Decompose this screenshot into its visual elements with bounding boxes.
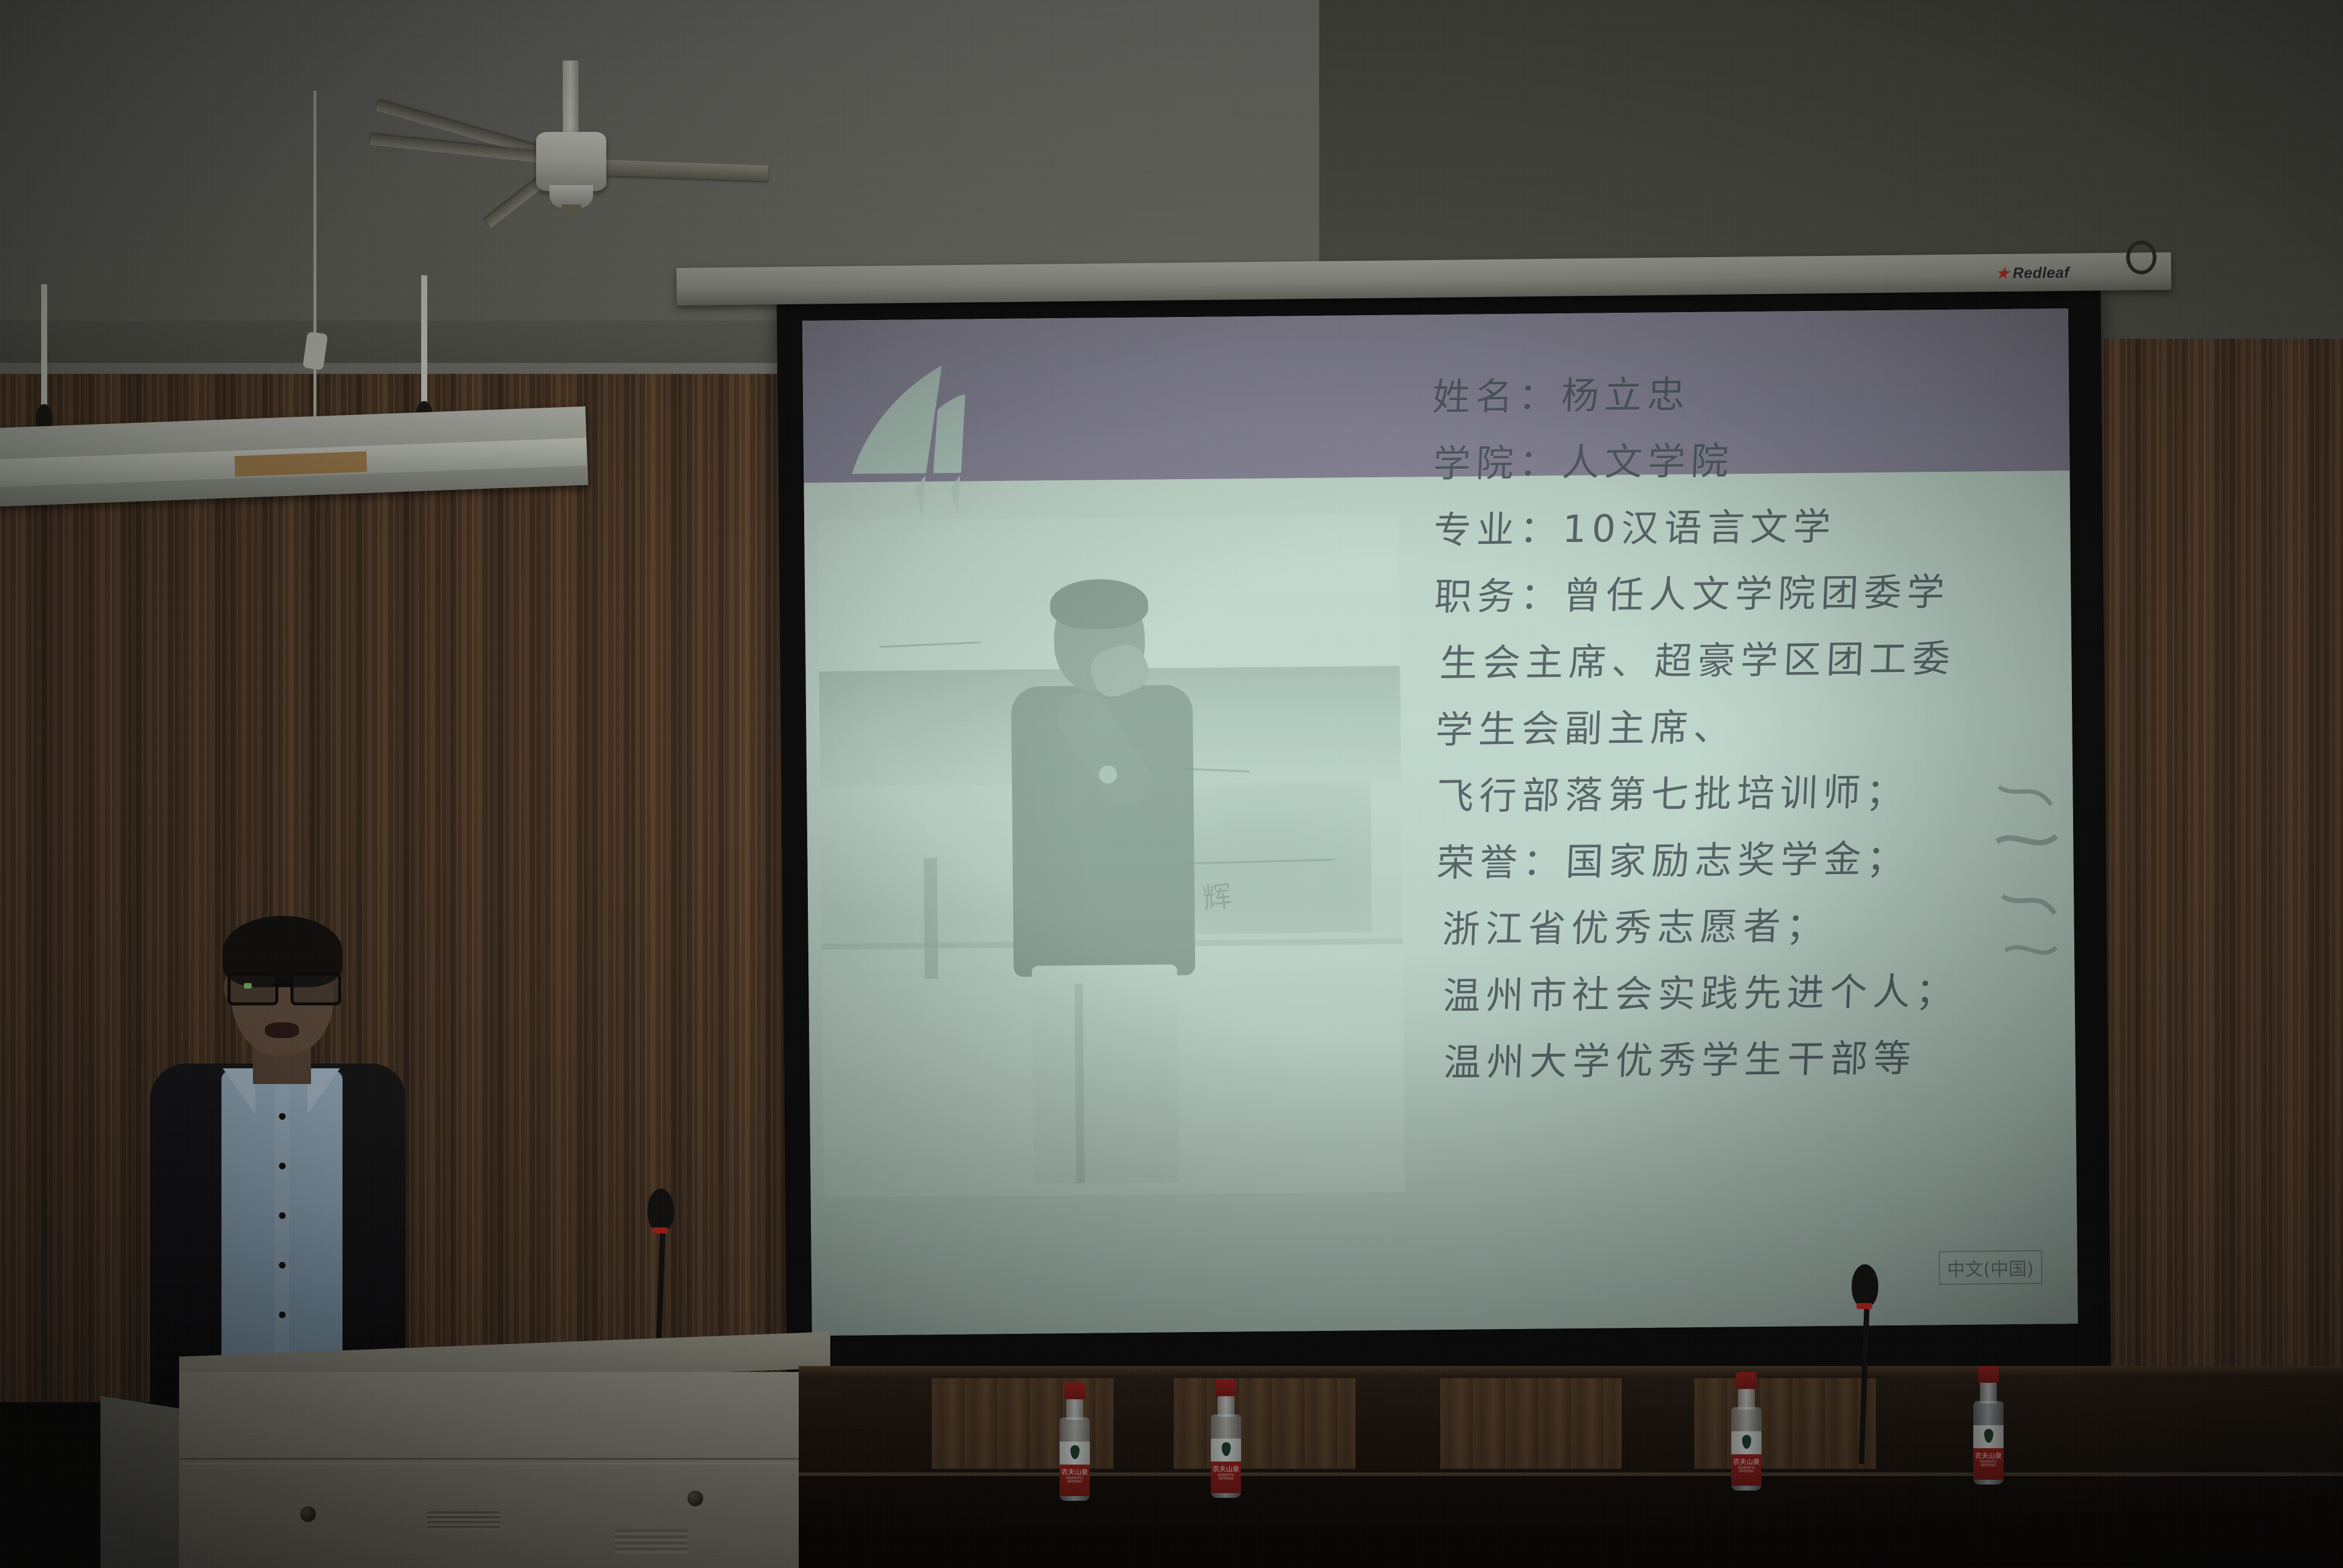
lectern-grille bbox=[615, 1529, 687, 1553]
water-bottle[interactable]: 农夫山泉NONGFU SPRING bbox=[1728, 1372, 1765, 1491]
eyeglasses bbox=[228, 973, 339, 999]
water-bottle[interactable]: 农夫山泉NONGFU SPRING bbox=[1970, 1366, 2007, 1485]
bottle-brand-en: NONGFU SPRING bbox=[1973, 1460, 2004, 1468]
handwritten-profile-text: 姓名：杨立忠 学院：人文学院 专业：10汉语言文学 职务：曾任人文学院团委学 生… bbox=[1432, 358, 2063, 1096]
lecture-hall-photo: ★Redleaf bbox=[0, 0, 2343, 1568]
bottle-brand-cn: 农夫山泉 bbox=[1731, 1457, 1761, 1466]
handwriting-line: 职务：曾任人文学院团委学 bbox=[1433, 558, 2059, 630]
handwriting-line: 浙江省优秀志愿者； bbox=[1436, 890, 2062, 963]
lectern-vent bbox=[427, 1511, 500, 1530]
light-fixture-hanger bbox=[41, 284, 47, 430]
bottle-brand-en: NONGFU SPRING bbox=[1731, 1466, 1761, 1474]
screen-hanger-loop bbox=[2126, 240, 2157, 275]
handwriting-line: 荣誉：国家励志奖学金； bbox=[1435, 824, 2062, 897]
bottle-brand-cn: 农夫山泉 bbox=[1973, 1451, 2004, 1460]
fan-light-kit bbox=[562, 204, 581, 217]
handwriting-line: 姓名：杨立忠 bbox=[1431, 358, 2057, 431]
fan-motor-housing bbox=[536, 132, 606, 191]
bottle-brand-en: NONGFU SPRING bbox=[1211, 1474, 1241, 1481]
photo-ink-stamp: 辉 bbox=[1200, 872, 1234, 917]
projection-screen-frame: 辉 姓名：杨立忠 学院：人文学院 专业：10汉语言文学 职务：曾任人文学院团委学… bbox=[776, 283, 2111, 1379]
bottle-cap bbox=[1216, 1379, 1236, 1397]
bottle-brand-en: NONGFU SPRING bbox=[1060, 1477, 1090, 1484]
fan-downrod bbox=[563, 60, 578, 133]
bottle-cap bbox=[1978, 1366, 1999, 1384]
handwriting-line: 学院：人文学院 bbox=[1432, 425, 2058, 497]
handwriting-line: 温州大学优秀学生干部等 bbox=[1437, 1024, 2063, 1096]
ceiling-fan bbox=[387, 97, 847, 254]
ime-language-indicator[interactable]: 中文(中国) bbox=[1938, 1250, 2042, 1285]
bottle-cap bbox=[1736, 1372, 1757, 1390]
water-bottle[interactable]: 农夫山泉NONGFU SPRING bbox=[1056, 1382, 1093, 1501]
star-icon: ★ bbox=[1996, 265, 2010, 282]
lectern-knob[interactable] bbox=[687, 1491, 703, 1506]
bottle-brand-cn: 农夫山泉 bbox=[1060, 1467, 1090, 1477]
microphone-led bbox=[652, 1227, 668, 1233]
handwriting-line: 生会主席、超豪学区团工委 bbox=[1434, 624, 2060, 697]
wood-wall-panel-right bbox=[2094, 339, 2343, 1391]
shirt-collar bbox=[307, 1068, 340, 1114]
handwriting-line: 温州市社会实践先进个人； bbox=[1437, 957, 2063, 1030]
handwriting-line: 专业：10汉语言文学 bbox=[1432, 491, 2059, 564]
sail-boat-logo bbox=[834, 354, 1017, 537]
lectern-side-panel bbox=[100, 1396, 180, 1568]
water-bottle[interactable]: 农夫山泉NONGFU SPRING bbox=[1207, 1379, 1245, 1498]
fan-pull-cord[interactable] bbox=[313, 91, 316, 454]
handwriting-line: 飞行部落第七批培训师； bbox=[1435, 757, 2061, 830]
shirt-collar bbox=[223, 1068, 255, 1114]
photo-person-saluting bbox=[972, 583, 1238, 1184]
screen-brand-label: ★Redleaf bbox=[1996, 264, 2069, 283]
handwriting-line: 学生会副主席、 bbox=[1434, 691, 2060, 763]
microphone-led bbox=[1856, 1303, 1872, 1309]
light-fixture-hanger bbox=[421, 275, 427, 426]
microphone-gooseneck bbox=[1859, 1309, 1870, 1464]
projected-slide: 辉 姓名：杨立忠 学院：人文学院 专业：10汉语言文学 职务：曾任人文学院团委学… bbox=[802, 309, 2078, 1336]
table-microphone[interactable] bbox=[1846, 1258, 1882, 1464]
mouth bbox=[265, 1022, 299, 1038]
panel-table bbox=[799, 1366, 2343, 1568]
microphone-capsule bbox=[647, 1189, 674, 1232]
bottle-brand-cn: 农夫山泉 bbox=[1211, 1464, 1241, 1474]
shirt-placket bbox=[275, 1084, 289, 1385]
lectern[interactable] bbox=[179, 1344, 830, 1568]
speaker bbox=[103, 926, 442, 1410]
lectern-front-panel bbox=[179, 1372, 830, 1568]
lectern-knob[interactable] bbox=[300, 1506, 316, 1522]
microphone-capsule bbox=[1852, 1264, 1878, 1308]
slide-inset-photo: 辉 bbox=[818, 515, 1405, 1198]
bottle-cap bbox=[1064, 1382, 1085, 1400]
